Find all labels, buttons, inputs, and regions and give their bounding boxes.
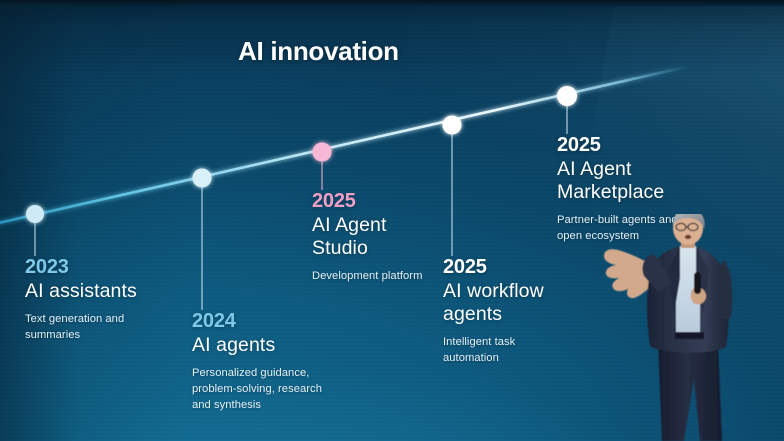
presentation-slide: AI innovation bbox=[0, 0, 784, 441]
milestone-year: 2025 bbox=[312, 190, 432, 212]
presenter-belt bbox=[675, 332, 704, 339]
milestone-description: Development platform bbox=[312, 269, 432, 285]
milestone-2024[interactable]: 2024 AI agents Personalized guidance, pr… bbox=[192, 310, 342, 414]
presenter-mouth bbox=[685, 235, 691, 239]
milestone-description: Text generation and summaries bbox=[25, 312, 170, 344]
milestone-title: AI Agent Studio bbox=[312, 214, 432, 260]
milestone-year: 2025 bbox=[443, 256, 561, 278]
milestone-description: Intelligent task automation bbox=[443, 335, 561, 367]
milestone-title: AI workflow agents bbox=[443, 280, 561, 326]
milestone-description: Personalized guidance, problem-solving, … bbox=[192, 366, 342, 414]
milestone-ai-agent-studio[interactable]: 2025 AI Agent Studio Development platfor… bbox=[312, 190, 432, 285]
milestone-title: AI assistants bbox=[25, 280, 170, 303]
presenter-figure bbox=[596, 214, 784, 441]
microphone-icon bbox=[694, 272, 701, 294]
presenter-trousers bbox=[658, 342, 722, 441]
milestone-ai-workflow-agents[interactable]: 2025 AI workflow agents Intelligent task… bbox=[443, 256, 561, 367]
screen-top-edge bbox=[0, 0, 784, 7]
milestone-year: 2025 bbox=[557, 134, 697, 156]
milestone-title: AI Agent Marketplace bbox=[557, 158, 697, 204]
milestone-year: 2023 bbox=[25, 256, 170, 278]
milestone-year: 2024 bbox=[192, 310, 342, 332]
page-title: AI innovation bbox=[238, 36, 399, 67]
milestone-2023[interactable]: 2023 AI assistants Text generation and s… bbox=[25, 256, 170, 344]
milestone-title: AI agents bbox=[192, 334, 342, 357]
